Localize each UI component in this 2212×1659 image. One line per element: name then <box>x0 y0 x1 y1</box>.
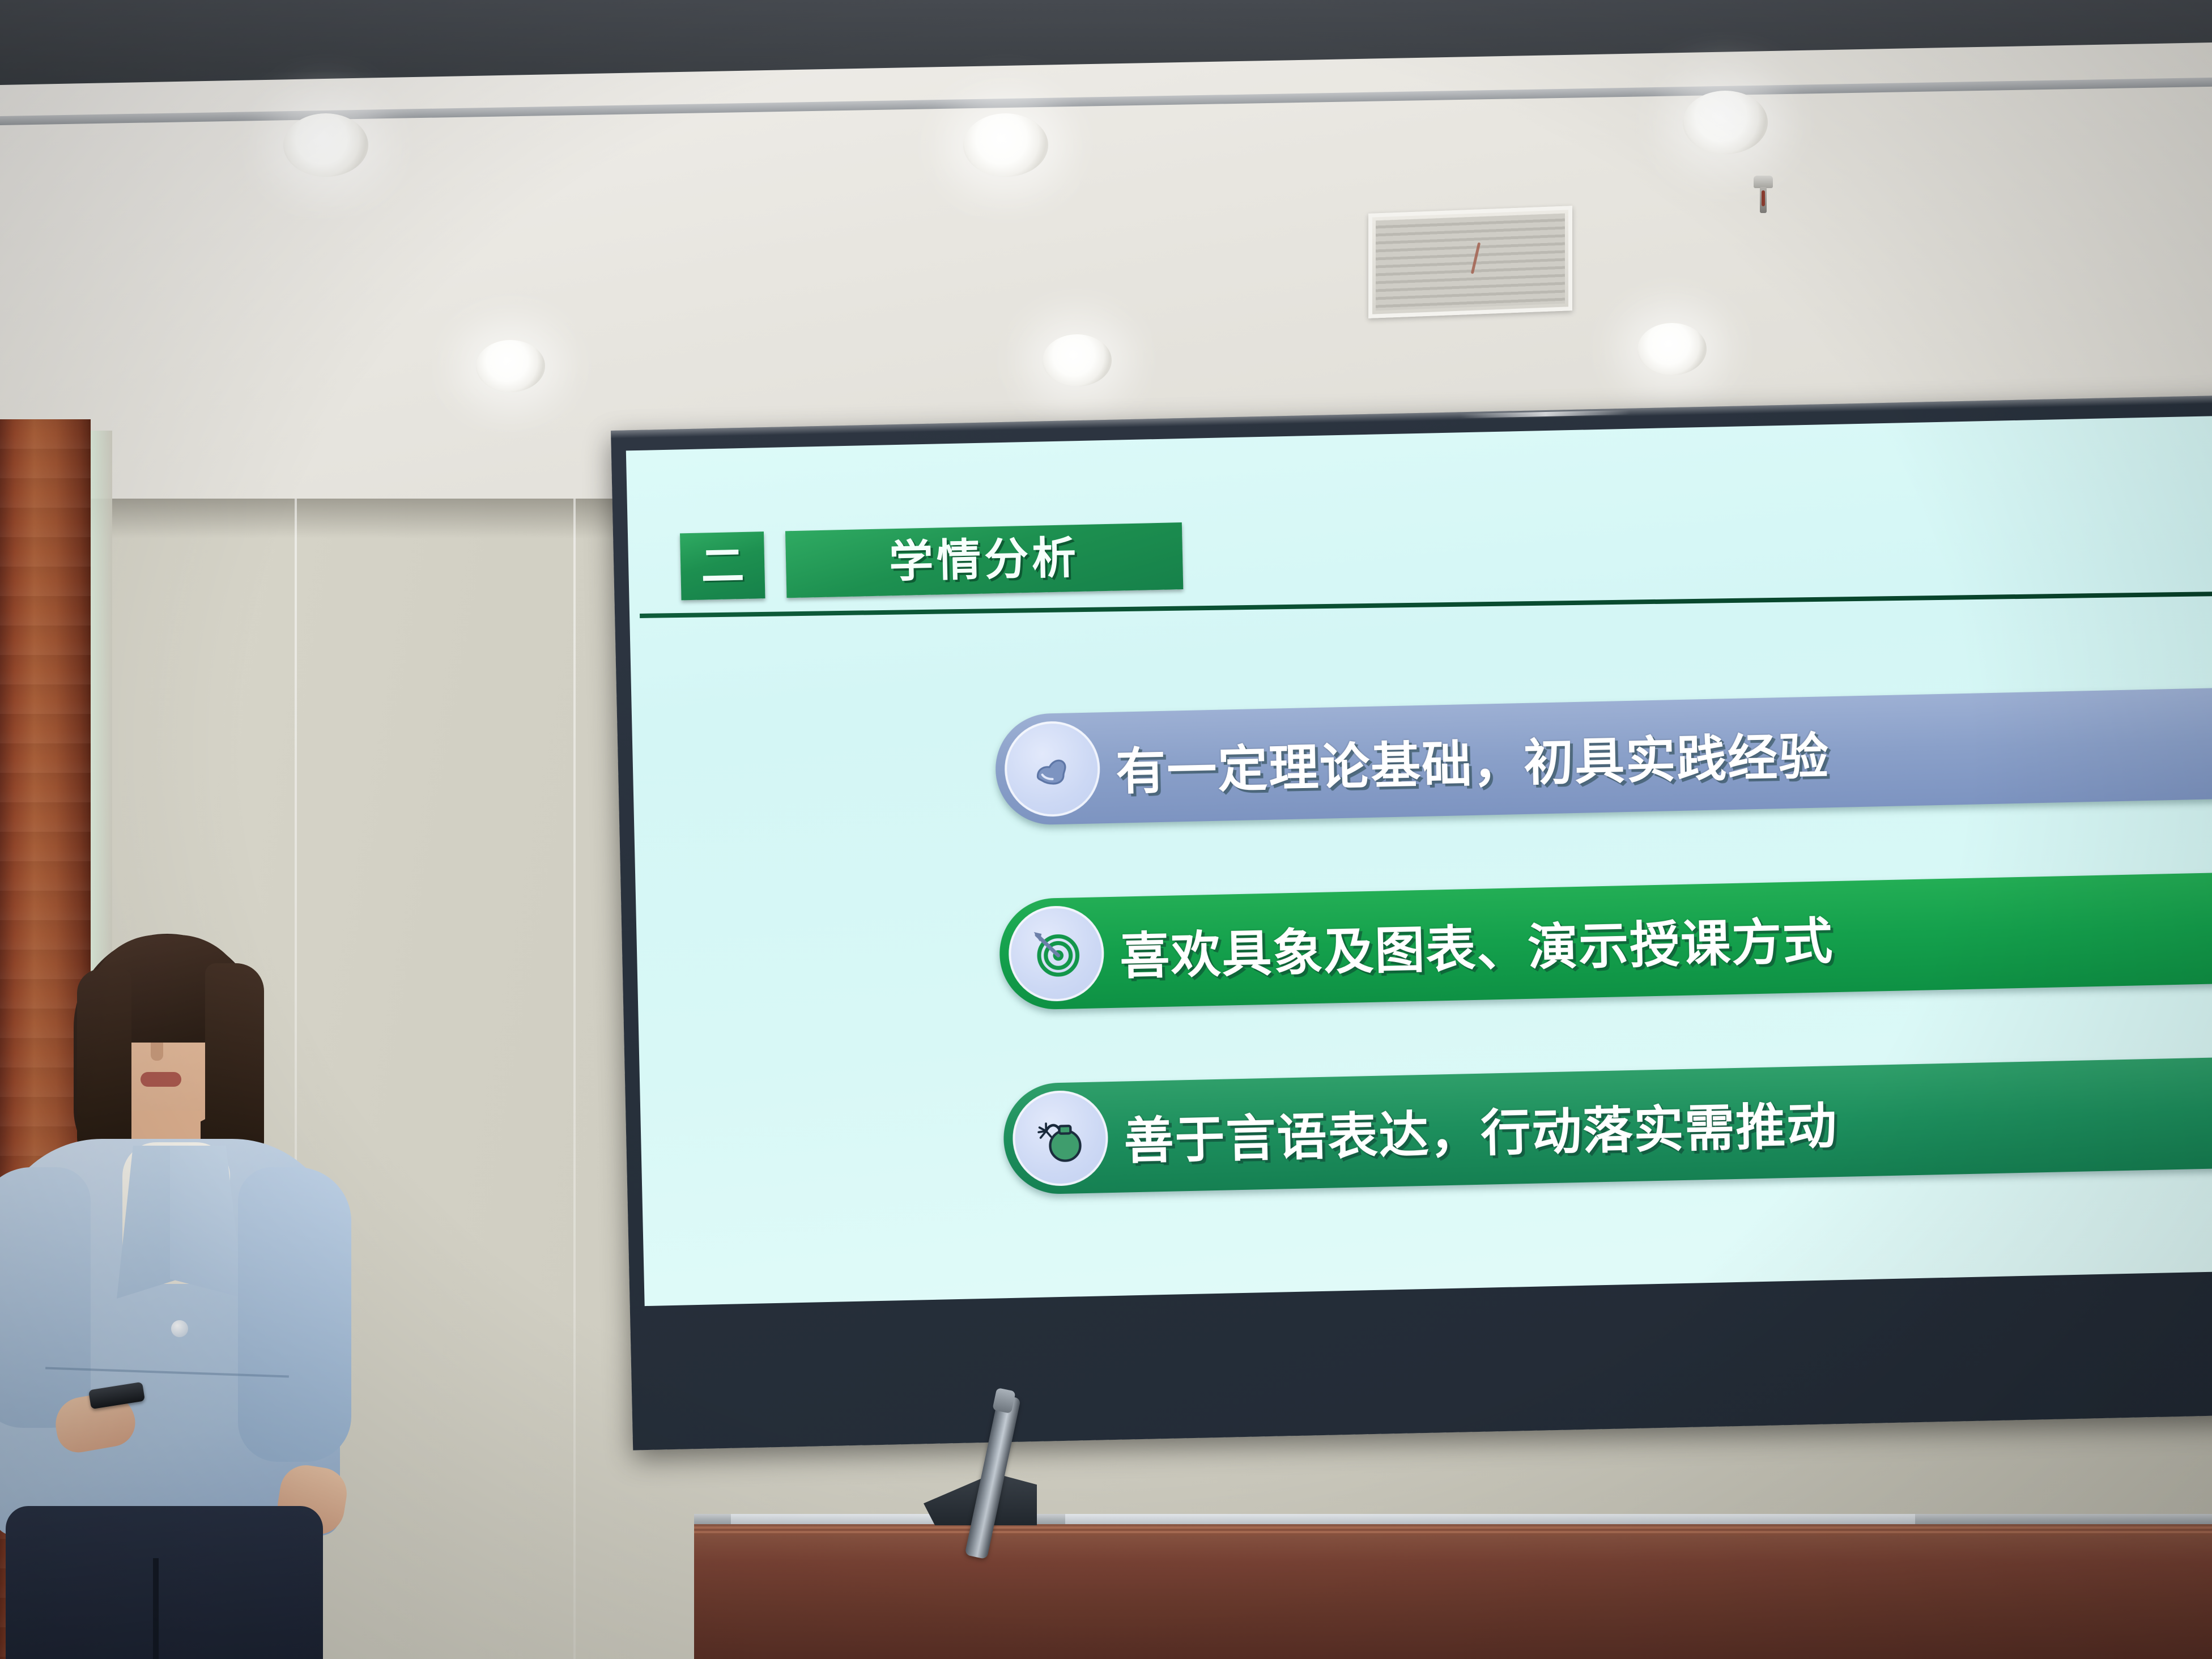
section-number: 二 <box>700 544 745 588</box>
fire-sprinkler-icon <box>1754 176 1773 220</box>
list-item-label: 善于言语表达，行动落实需推动 <box>1122 1066 1839 1192</box>
downlight-1 <box>283 113 368 177</box>
wall-seam-2 <box>573 499 576 1659</box>
arm-right <box>238 1167 351 1462</box>
section-title-box: 学情分析 <box>785 522 1183 598</box>
downlight-3 <box>1683 91 1768 154</box>
projection-screen: 二 学情分析 <box>611 394 2212 1450</box>
sprinkler-bulb <box>1762 190 1765 206</box>
podium <box>694 1524 2212 1659</box>
screen-bezel: 二 学情分析 <box>611 394 2212 1450</box>
slide-canvas: 二 学情分析 <box>626 415 2212 1306</box>
vent-louvers <box>1376 214 1565 311</box>
mouth <box>141 1072 181 1087</box>
downlight-6 <box>1637 323 1707 375</box>
downlight-2 <box>963 113 1048 177</box>
downlight-5 <box>1043 334 1112 386</box>
trouser-seam <box>153 1558 159 1659</box>
list-item-label: 有一定理论基础，初具实践经验 <box>1114 696 1831 823</box>
list-item-label: 喜欢具象及图表、演示授课方式 <box>1118 881 1835 1007</box>
list-item: 喜欢具象及图表、演示授课方式 <box>998 870 2212 1010</box>
section-number-box: 二 <box>680 531 765 600</box>
trousers <box>6 1506 323 1659</box>
list-item: 善于言语表达，行动落实需推动 <box>1002 1054 2212 1195</box>
list-item: 有一定理论基础，初具实践经验 <box>994 685 2212 826</box>
bomb-icon <box>1012 1090 1109 1187</box>
presentation-room-photo: 二 学情分析 <box>0 0 2212 1659</box>
sprinkler-head <box>1754 176 1773 188</box>
air-vent-icon <box>1368 206 1572 318</box>
banner-shape: 喜欢具象及图表、演示授课方式 <box>998 870 2212 1010</box>
banner-shape: 有一定理论基础，初具实践经验 <box>994 685 2212 826</box>
page-title: 学情分析 <box>888 536 1080 584</box>
hair-side-right <box>205 963 264 1167</box>
blazer-button <box>171 1320 188 1337</box>
hair-side-left <box>77 969 131 1162</box>
banner-shape: 善于言语表达，行动落实需推动 <box>1002 1054 2212 1195</box>
arm-left <box>0 1167 91 1428</box>
presenter <box>0 924 414 1659</box>
target-arrow-icon <box>1008 905 1105 1002</box>
slide-title-row: 二 学情分析 <box>680 522 1183 600</box>
podium-lip <box>694 1526 2212 1535</box>
downlight-4 <box>476 340 545 392</box>
flexed-bicep-icon <box>1003 720 1101 818</box>
